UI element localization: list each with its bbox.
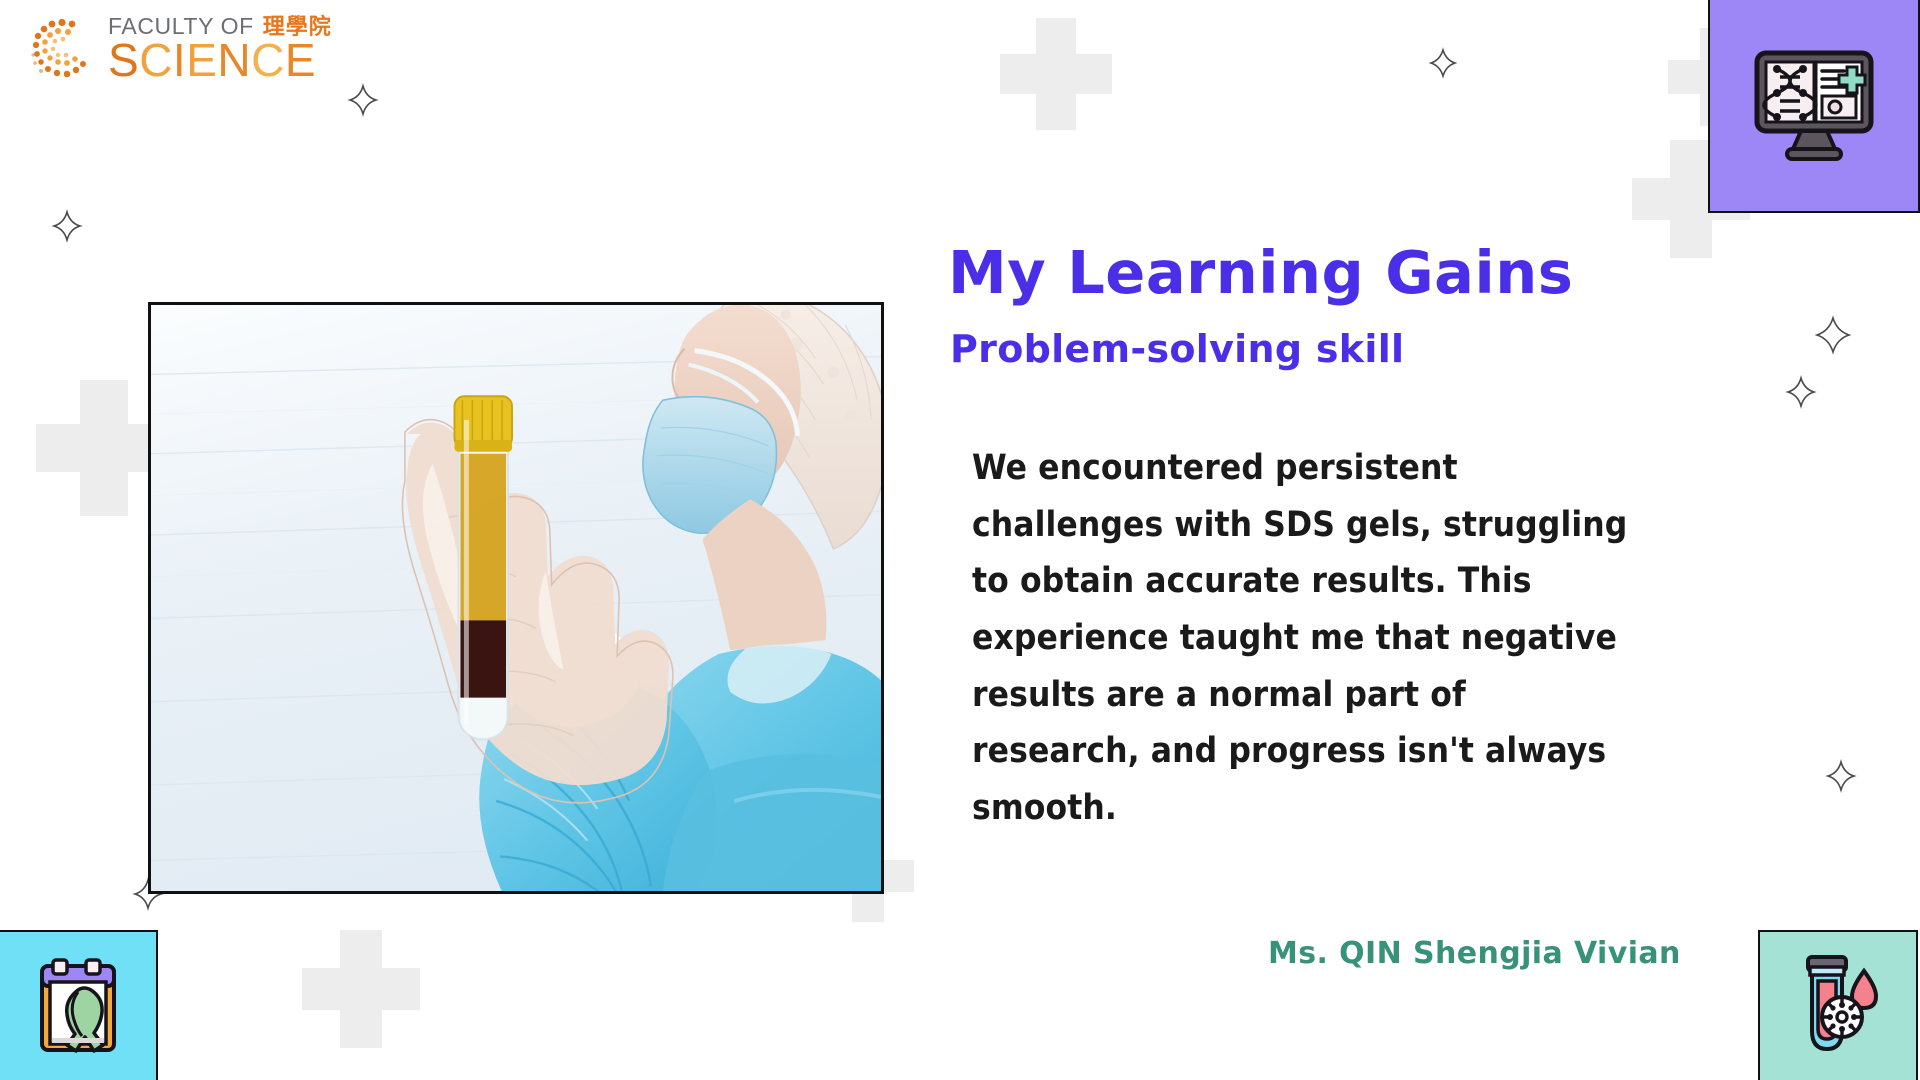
author-name: Ms. QIN Shengjia Vivian <box>1268 936 1681 971</box>
body-paragraph: We encountered persistent challenges wit… <box>972 440 1772 837</box>
body-line: smooth. <box>972 780 1772 837</box>
body-line: research, and progress isn't always <box>972 723 1772 780</box>
page-subtitle: Problem-solving skill <box>950 327 1404 371</box>
logo-dot-spiral-icon <box>28 14 98 84</box>
blood-tube-virus-icon-tile <box>1758 930 1918 1080</box>
logo-science-text: SCIENCE <box>108 37 332 83</box>
clipboard-ribbon-icon-tile <box>0 930 158 1080</box>
body-line: We encountered persistent <box>972 440 1772 497</box>
body-line: to obtain accurate results. This <box>972 553 1772 610</box>
sparkle-right-a-icon <box>1817 318 1849 352</box>
blood-test-tube-virus-icon <box>1786 951 1890 1061</box>
sparkle-logo-right-icon <box>350 86 376 114</box>
lab-technician-holding-blood-tube-photo <box>148 302 884 894</box>
photo-illustration <box>151 305 881 892</box>
body-line: challenges with SDS gels, struggling <box>972 497 1772 554</box>
dna-computer-monitor-icon <box>1739 31 1889 181</box>
faculty-of-science-logo: FACULTY OF 理學院 SCIENCE <box>28 14 332 84</box>
page-title: My Learning Gains <box>948 238 1573 307</box>
clipboard-awareness-ribbon-icon <box>28 952 128 1060</box>
sparkle-mid-top-icon <box>1431 50 1455 76</box>
presentation-slide: FACULTY OF 理學院 SCIENCE <box>0 0 1920 1080</box>
sparkle-right-c-icon <box>1828 762 1854 790</box>
sparkle-right-b-icon <box>1788 378 1814 406</box>
body-line: results are a normal part of <box>972 667 1772 724</box>
dna-monitor-icon-tile <box>1708 0 1920 213</box>
body-line: experience taught me that negative <box>972 610 1772 667</box>
sparkle-left-upper-icon <box>54 212 80 240</box>
